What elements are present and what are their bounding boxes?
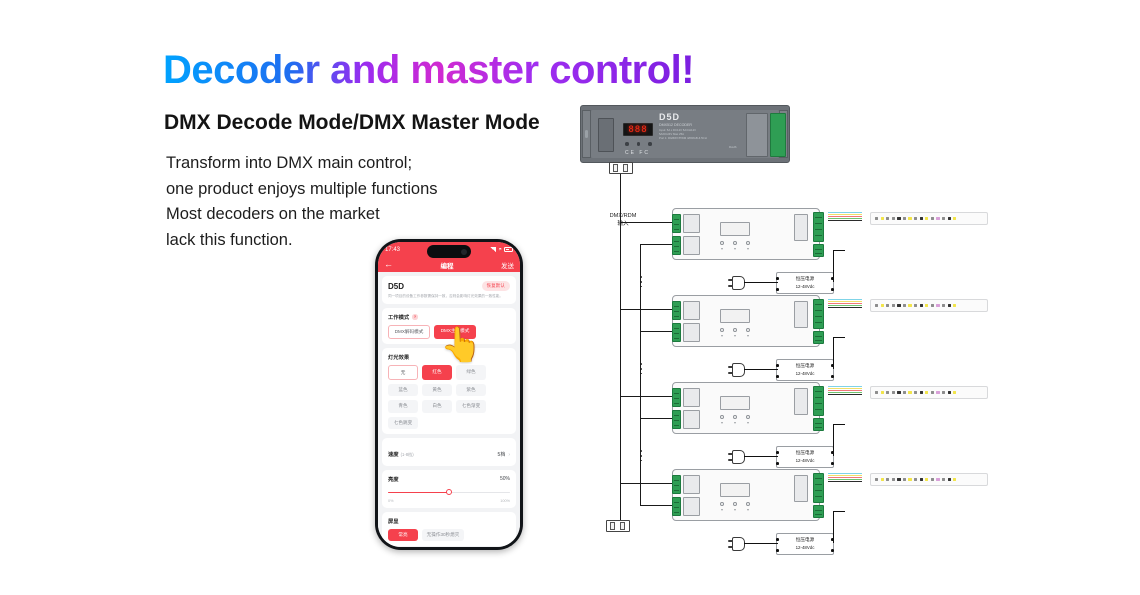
led-dot — [942, 478, 945, 481]
psu-dc-wire-2b — [833, 337, 845, 338]
effect-option-blue[interactable]: 蓝色 — [388, 384, 418, 396]
unit-button-2[interactable] — [733, 328, 737, 332]
led-dot — [942, 217, 945, 220]
psu-label-line1: 恒压电源 — [777, 450, 833, 456]
psu-dc-wire-4b — [833, 511, 845, 512]
led-dot — [953, 478, 956, 481]
master-button-up[interactable] — [637, 142, 641, 146]
display-label: 屏显 — [388, 517, 510, 525]
dmx-input-label-line1: DMX/RDM — [594, 212, 652, 220]
strip-connector — [870, 476, 871, 486]
led-dot — [892, 391, 895, 394]
unit-output-connector — [794, 388, 808, 415]
led-dot — [892, 304, 895, 307]
unit-power-input-terminal — [813, 505, 824, 518]
master-heatsink — [598, 118, 614, 152]
ac-plug-4 — [728, 537, 745, 551]
led-strip-3 — [870, 386, 988, 399]
terminator-cell-right — [620, 522, 625, 530]
master-button-down[interactable] — [648, 142, 652, 146]
led-dot — [903, 478, 906, 481]
dmx-trunk-vertical — [620, 168, 621, 216]
effect-option-white[interactable]: 白色 — [422, 400, 452, 412]
seven-segment-display: 888 — [623, 123, 653, 136]
mounting-ear-left — [582, 110, 591, 158]
dmx-return-2 — [640, 331, 672, 332]
paragraph-line: one product enjoys multiple functions — [166, 177, 438, 203]
unit-button-1[interactable] — [720, 328, 724, 332]
led-dot — [942, 304, 945, 307]
dynamic-island — [427, 245, 471, 258]
led-dot — [953, 391, 956, 394]
psu-ac-wire-1 — [744, 282, 778, 283]
led-dot — [914, 478, 917, 481]
device-header-row: D5D 恢复默认 — [388, 281, 510, 291]
speed-value-group: 5档› — [498, 443, 510, 461]
plug-pin-live — [728, 540, 733, 542]
led-dot — [897, 391, 900, 394]
unit-left-connector-upper — [683, 214, 700, 233]
strip-connector — [870, 389, 871, 399]
psu-label-line2: 12-48Vdc — [777, 545, 833, 550]
dmx-branch-3 — [620, 396, 672, 397]
light-effect-options: 无 红色 绿色 蓝色 黄色 紫色 青色 白色 七色渐变 七色跳变 — [388, 365, 510, 429]
master-green-terminal — [770, 113, 786, 157]
unit-buttons[interactable] — [720, 241, 750, 245]
psu-dc-wire-1b — [833, 250, 845, 251]
plug-pin-live — [728, 453, 733, 455]
unit-buttons[interactable] — [720, 415, 750, 419]
brightness-label: 亮度 — [388, 475, 399, 483]
pointing-hand-icon: 👆 — [440, 328, 482, 362]
chevron-right-icon[interactable]: › — [508, 452, 510, 458]
ac-plug-1 — [728, 276, 745, 290]
unit-buttons[interactable] — [720, 328, 750, 332]
psu-ac-wire-2 — [744, 369, 778, 370]
dmx-return-3 — [640, 418, 672, 419]
unit-button-1[interactable] — [720, 502, 724, 506]
slider-handle[interactable] — [446, 489, 452, 495]
unit-power-input-terminal — [813, 244, 824, 257]
device-name: D5D — [388, 282, 404, 291]
led-dot — [953, 304, 956, 307]
led-dot — [925, 478, 928, 481]
led-dot — [875, 478, 878, 481]
unit-left-connector-lower — [683, 236, 700, 255]
slider-range-labels: 0% 100% — [388, 499, 510, 503]
settings-scroll-area[interactable]: D5D 恢复默认 同一项目的设备工作参数需保持一致，否则会影响灯光效果的一致性能… — [378, 272, 520, 547]
led-ribbon-cable-4 — [828, 473, 862, 484]
effect-option-green[interactable]: 绿色 — [456, 365, 486, 379]
psu-label-line2: 12-48Vdc — [777, 458, 833, 463]
led-dot — [903, 391, 906, 394]
psu-label-line2: 12-48Vdc — [777, 371, 833, 376]
led-dot — [897, 217, 900, 220]
dmx-input-label: DMX/RDM 输入 — [594, 212, 652, 228]
dmx-end-terminator-icon — [606, 516, 630, 532]
led-dot — [936, 391, 939, 394]
unit-button-2[interactable] — [733, 241, 737, 245]
master-decoder-device: 888 D5D DMX512 DECODER Input: 5A x DC12V… — [580, 105, 790, 163]
led-dot — [925, 391, 928, 394]
unit-output-connector — [794, 214, 808, 241]
unit-dmx-in-terminal — [672, 388, 681, 407]
unit-left-connector-lower — [683, 410, 700, 429]
master-subtitle: DMX512 DECODER — [659, 123, 692, 127]
psu-dc-wire-1 — [833, 250, 834, 282]
led-dot — [948, 217, 951, 220]
speed-label: 速度 — [388, 452, 399, 458]
decoder-unit-3 — [658, 382, 838, 434]
dmx-branch-1 — [620, 222, 672, 223]
effect-option-gradient[interactable]: 七色渐变 — [456, 400, 486, 412]
brightness-row: 亮度 50% — [388, 475, 510, 483]
unit-dmx-in-terminal — [672, 475, 681, 494]
brightness-slider[interactable] — [388, 489, 510, 497]
ac-plug-2 — [728, 363, 745, 377]
led-dot — [903, 304, 906, 307]
led-dot — [886, 478, 889, 481]
speed-range: (1-8档) — [401, 452, 414, 457]
led-dot — [881, 304, 884, 307]
led-dot — [931, 217, 934, 220]
led-strip-1 — [870, 212, 988, 225]
dmx-branch-4 — [620, 483, 672, 484]
unit-button-3[interactable] — [746, 328, 750, 332]
led-ribbon-cable-1 — [828, 212, 862, 223]
display-option-auto-off[interactable]: 无操作30秒熄灭 — [422, 529, 464, 541]
unit-button-1[interactable] — [720, 241, 724, 245]
dmx-return-riser — [640, 244, 641, 506]
led-dot — [953, 217, 956, 220]
description-paragraph: Transform into DMX main control; one pro… — [166, 151, 438, 253]
led-dot — [948, 304, 951, 307]
certification-marks: CE FC — [625, 150, 650, 156]
unit-dmx-out-terminal — [672, 410, 681, 429]
led-dot — [914, 391, 917, 394]
unit-left-connector-upper — [683, 301, 700, 320]
device-card: D5D 恢复默认 同一项目的设备工作参数需保持一致，否则会影响灯光效果的一致性能… — [382, 276, 516, 304]
master-terminal-block — [746, 113, 768, 157]
led-dot — [881, 478, 884, 481]
unit-button-3[interactable] — [746, 502, 750, 506]
decoder-unit-4 — [658, 469, 838, 521]
wifi-icon: ◓ — [498, 247, 502, 253]
display-options: 常亮 无操作30秒熄灭 — [388, 529, 510, 541]
led-dot — [892, 217, 895, 220]
terminator-cell-right — [623, 164, 628, 172]
unit-buttons[interactable] — [720, 502, 750, 506]
unit-output-connector — [794, 301, 808, 328]
effect-option-yellow[interactable]: 黄色 — [422, 384, 452, 396]
led-dot — [881, 391, 884, 394]
terminator-cell-left — [610, 522, 615, 530]
phone-screen: 17:43 ◓ ← 编程 发送 D5D 恢复默认 — [378, 242, 520, 547]
led-dot — [914, 217, 917, 220]
master-spec-line-3: Port 1: RGBWY/PWM 4/8/RGB & 5CH — [659, 137, 725, 141]
led-dot — [948, 391, 951, 394]
psu-ac-wire-3 — [744, 456, 778, 457]
led-dot — [908, 304, 911, 307]
led-dot — [892, 478, 895, 481]
speed-label-group: 速度(1-8档) — [388, 443, 414, 461]
unit-button-2[interactable] — [733, 502, 737, 506]
led-dot — [936, 217, 939, 220]
slide-canvas: Decoder and master control! DMX Decode M… — [0, 0, 1140, 595]
nav-title: 编程 — [441, 260, 454, 270]
terminator-cell-left — [613, 164, 618, 172]
plug-pin-live — [728, 279, 733, 281]
plug-pin-neutral — [728, 372, 733, 374]
paragraph-line: Transform into DMX main control; — [166, 151, 438, 177]
psu-dc-wire-3 — [833, 424, 834, 456]
plug-pin-neutral — [728, 459, 733, 461]
wiring-diagram: 888 D5D DMX512 DECODER Input: 5A x DC12V… — [580, 100, 1010, 560]
subtitle: DMX Decode Mode/DMX Master Mode — [164, 111, 540, 135]
psu-ac-wire-4 — [744, 543, 778, 544]
effect-option-red[interactable]: 红色 — [422, 365, 452, 379]
power-supply-3: 恒压电源 12-48Vdc — [776, 446, 834, 468]
unit-button-2[interactable] — [733, 415, 737, 419]
battery-icon — [504, 247, 513, 252]
led-dot — [908, 217, 911, 220]
psu-dc-wire-3b — [833, 424, 845, 425]
led-dot — [931, 304, 934, 307]
question-icon[interactable]: ? — [412, 314, 418, 320]
led-dot — [920, 478, 923, 481]
speed-value: 5档 — [498, 452, 506, 458]
unit-display — [720, 222, 750, 236]
unit-button-3[interactable] — [746, 241, 750, 245]
unit-left-connector-lower — [683, 497, 700, 516]
led-dot — [886, 391, 889, 394]
psu-dc-wire-4 — [833, 511, 834, 543]
led-dot — [925, 304, 928, 307]
led-dot — [897, 304, 900, 307]
decoder-unit-1 — [658, 208, 838, 260]
dmx-branch-2 — [620, 309, 672, 310]
strip-connector — [870, 302, 871, 312]
led-dot — [903, 217, 906, 220]
led-dot — [925, 217, 928, 220]
plug-pin-neutral — [728, 285, 733, 287]
psu-label-line1: 恒压电源 — [777, 537, 833, 543]
send-button[interactable]: 发送 — [501, 260, 514, 270]
led-dot — [908, 391, 911, 394]
phone-mockup: 17:43 ◓ ← 编程 发送 D5D 恢复默认 — [375, 239, 523, 550]
unit-power-input-terminal — [813, 331, 824, 344]
unit-display — [720, 483, 750, 497]
led-dot — [920, 304, 923, 307]
master-model-label: D5D — [659, 112, 680, 122]
dmx-return-1 — [640, 244, 672, 245]
unit-display — [720, 396, 750, 410]
slider-fill — [388, 492, 449, 493]
led-dot — [875, 304, 878, 307]
work-mode-label-row: 工作模式 ? — [388, 313, 510, 321]
speed-card[interactable]: 速度(1-8档) 5档› — [382, 438, 516, 466]
work-mode-label: 工作模式 — [388, 313, 409, 321]
status-time: 17:43 — [385, 247, 400, 253]
restore-default-button[interactable]: 恢复默认 — [482, 281, 510, 291]
effect-option-none[interactable]: 无 — [388, 365, 418, 379]
led-dot — [875, 217, 878, 220]
power-supply-2: 恒压电源 12-48Vdc — [776, 359, 834, 381]
psu-label-line1: 恒压电源 — [777, 276, 833, 282]
effect-option-jump[interactable]: 七色跳变 — [388, 417, 418, 429]
unit-left-connector-upper — [683, 388, 700, 407]
led-dot — [881, 217, 884, 220]
psu-dc-wire-2 — [833, 337, 834, 369]
unit-left-connector-upper — [683, 475, 700, 494]
power-supply-4: 恒压电源 12-48Vdc — [776, 533, 834, 555]
led-dot — [914, 304, 917, 307]
led-dot — [936, 304, 939, 307]
led-dot — [886, 304, 889, 307]
unit-led-output-terminal — [813, 473, 824, 503]
brightness-card: 亮度 50% 0% 100% — [382, 470, 516, 508]
led-dot — [886, 217, 889, 220]
unit-button-1[interactable] — [720, 415, 724, 419]
display-option-always-on[interactable]: 常亮 — [388, 529, 418, 541]
front-camera-icon — [461, 249, 467, 255]
status-icon-group: ◓ — [490, 247, 513, 253]
unit-power-input-terminal — [813, 418, 824, 431]
page-title: Decoder and master control! — [163, 48, 694, 93]
led-dot — [936, 478, 939, 481]
led-dot — [875, 391, 878, 394]
signal-icon — [490, 247, 496, 252]
psu-label-line2: 12-48Vdc — [777, 284, 833, 289]
unit-dmx-out-terminal — [672, 497, 681, 516]
led-dot — [897, 478, 900, 481]
dmx-terminator-icon — [609, 158, 633, 174]
unit-button-3[interactable] — [746, 415, 750, 419]
led-dot — [931, 478, 934, 481]
led-dot — [931, 391, 934, 394]
device-description: 同一项目的设备工作参数需保持一致，否则会影响灯光效果的一致性能。 — [388, 294, 510, 299]
app-nav-bar: ← 编程 发送 — [378, 257, 520, 272]
unit-display — [720, 309, 750, 323]
effect-option-purple[interactable]: 紫色 — [456, 384, 486, 396]
unit-dmx-out-terminal — [672, 323, 681, 342]
dmx-bus-vertical — [620, 216, 621, 526]
unit-left-connector-lower — [683, 323, 700, 342]
work-mode-option-decode[interactable]: DMX解码模式 — [388, 325, 430, 339]
led-ribbon-cable-3 — [828, 386, 862, 397]
led-dot — [920, 217, 923, 220]
unit-dmx-in-terminal — [672, 301, 681, 320]
unit-dmx-in-terminal — [672, 214, 681, 233]
speed-row: 速度(1-8档) 5档› — [388, 443, 510, 461]
unit-led-output-terminal — [813, 212, 824, 242]
led-dot — [948, 478, 951, 481]
display-card: 屏显 常亮 无操作30秒熄灭 — [382, 512, 516, 546]
plug-pin-neutral — [728, 546, 733, 548]
ac-plug-3 — [728, 450, 745, 464]
led-ribbon-cable-2 — [828, 299, 862, 310]
led-dot — [920, 391, 923, 394]
decoder-unit-2 — [658, 295, 838, 347]
strip-connector — [870, 215, 871, 225]
led-strip-2 — [870, 299, 988, 312]
led-dot — [942, 391, 945, 394]
led-strip-4 — [870, 473, 988, 486]
power-supply-1: 恒压电源 12-48Vdc — [776, 272, 834, 294]
led-dot — [908, 478, 911, 481]
dmx-return-4 — [640, 505, 672, 506]
unit-led-output-terminal — [813, 386, 824, 416]
slider-min-label: 0% — [388, 499, 394, 503]
paragraph-line: Most decoders on the market — [166, 202, 438, 228]
master-button-row[interactable] — [625, 142, 652, 146]
unit-led-output-terminal — [813, 299, 824, 329]
brightness-value: 50% — [500, 476, 510, 482]
status-bar: 17:43 ◓ — [378, 242, 520, 257]
unit-output-connector — [794, 475, 808, 502]
unit-dmx-out-terminal — [672, 236, 681, 255]
psu-label-line1: 恒压电源 — [777, 363, 833, 369]
master-button-menu[interactable] — [625, 142, 629, 146]
back-arrow-icon[interactable]: ← — [384, 260, 393, 269]
plug-pin-live — [728, 366, 733, 368]
slider-max-label: 100% — [500, 499, 510, 503]
effect-option-cyan[interactable]: 青色 — [388, 400, 418, 412]
